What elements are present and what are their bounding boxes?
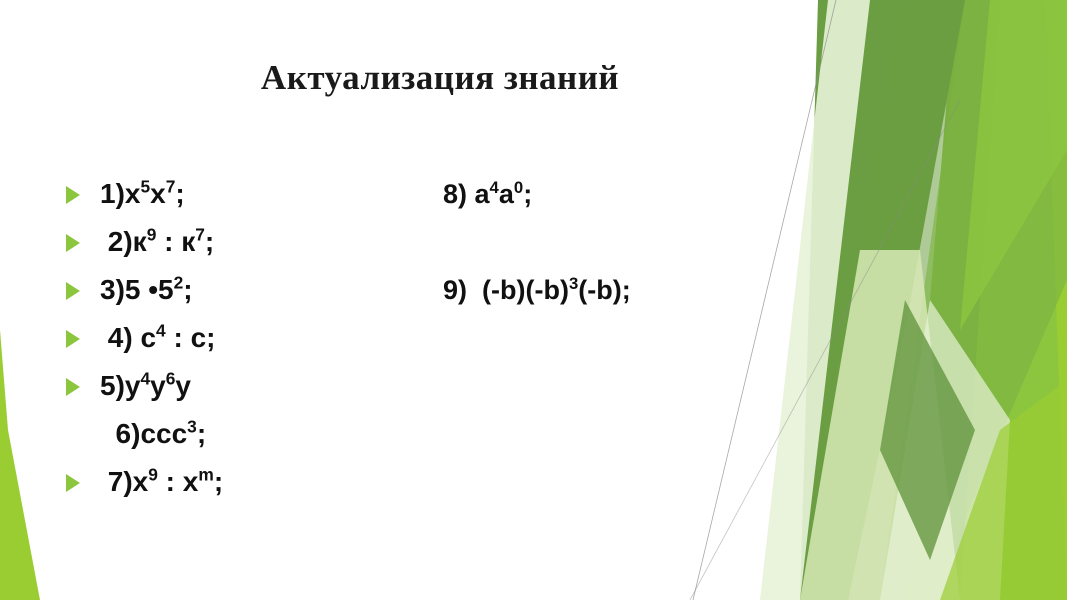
list-item: 1)x5x7; 8) a4a0; — [0, 172, 820, 220]
triangle-right-icon — [66, 378, 80, 396]
right-expression-9: 9) (-b)(-b)3(-b); — [443, 268, 631, 312]
triangle-right-icon — [66, 330, 80, 348]
list-item: 6)ссс3; — [0, 412, 820, 460]
triangle-right-icon — [66, 186, 80, 204]
list-item: 5)у4у6у — [0, 364, 820, 412]
triangle-right-icon — [66, 234, 80, 252]
exercise-list: 1)x5x7; 8) a4a0; 2)к9 : к7; 3)5 •52; 9) … — [0, 172, 820, 552]
page-title: Актуализация знаний — [0, 58, 880, 98]
left-expression-1: 1)x5x7; — [100, 172, 185, 216]
list-item: 2)к9 : к7; — [0, 220, 820, 268]
list-item: 4) с4 : с; — [0, 316, 820, 364]
left-expression-7: 7)х9 : хm; — [100, 460, 223, 504]
slide-canvas: Актуализация знаний 1)x5x7; 8) a4a0; 2)к… — [0, 0, 1067, 600]
triangle-right-icon — [66, 282, 80, 300]
left-expression-5: 5)у4у6у — [100, 364, 191, 408]
left-expression-4: 4) с4 : с; — [100, 316, 215, 360]
left-expression-2: 2)к9 : к7; — [100, 220, 214, 264]
left-expression-3: 3)5 •52; — [100, 268, 193, 312]
list-item: 3)5 •52; 9) (-b)(-b)3(-b); — [0, 268, 820, 316]
list-item: 7)х9 : хm; — [0, 460, 820, 508]
left-expression-6: 6)ссс3; — [100, 412, 206, 456]
triangle-right-icon — [66, 474, 80, 492]
right-expression-8: 8) a4a0; — [443, 172, 532, 216]
